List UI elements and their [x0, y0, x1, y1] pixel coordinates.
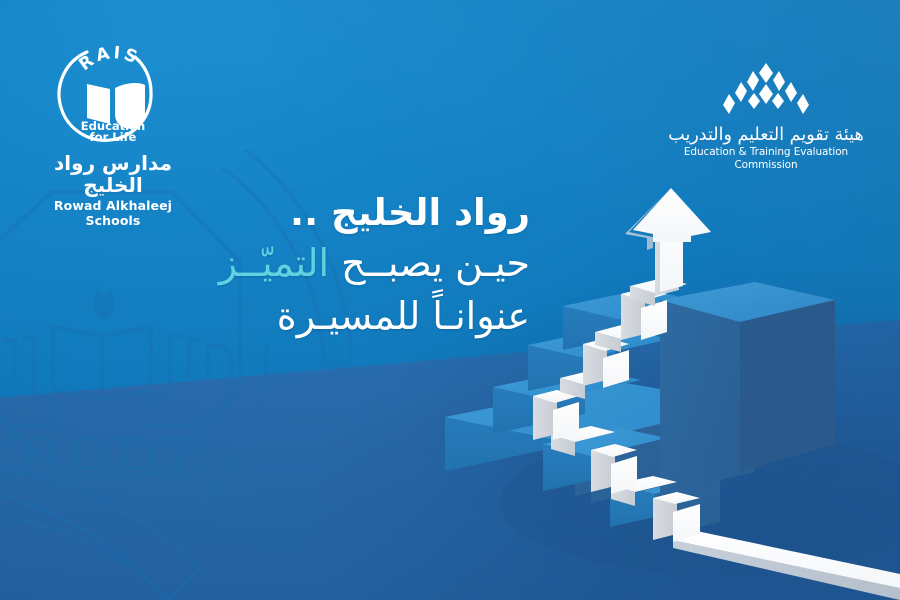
etec-name-english: Education & Training Evaluation Commissi… [658, 146, 874, 171]
rais-tagline-line2: for Life [90, 130, 137, 144]
etec-logo: هيئة تقويم التعليم والتدريب Education & … [658, 62, 874, 171]
etec-palm-icon [710, 62, 822, 118]
headline-line-3: عنوانـاً للمسيـرة [110, 291, 530, 342]
poster-canvas: RAIS Education for Life مدارس رواد الخلي… [0, 0, 900, 600]
headline-line-2: حيـن يصبــح التميّــز [110, 236, 530, 291]
etec-name-arabic: هيئة تقويم التعليم والتدريب [658, 125, 874, 145]
headline-block: رواد الخليج .. حيـن يصبــح التميّــز عنو… [110, 190, 530, 343]
svg-text:RAIS: RAIS [75, 43, 142, 75]
headline-accent-word: التميّــز [219, 241, 329, 285]
headline-line-2-plain: حيـن يصبــح [329, 241, 530, 285]
headline-line-1: رواد الخليج .. [110, 190, 530, 236]
rais-emblem-icon: RAIS Education for Life [57, 36, 169, 148]
